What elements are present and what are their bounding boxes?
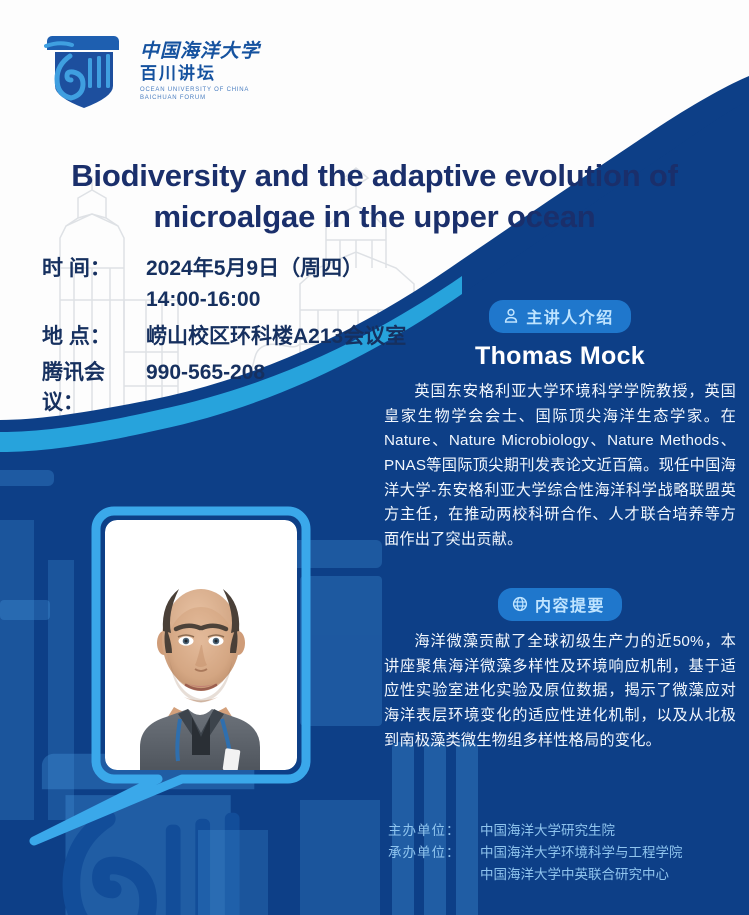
poster-root: 中国海洋大学 百川讲坛 OCEAN UNIVERSITY OF CHINA BA… bbox=[0, 0, 749, 915]
abstract-badge: 内容提要 bbox=[498, 588, 622, 621]
footer-row-host: 主办单位： 中国海洋大学研究生院 bbox=[388, 820, 740, 842]
detail-row-time: 时 间： 2024年5月9日（周四） bbox=[42, 252, 462, 282]
logo-subtitle-cn: 百川讲坛 bbox=[140, 65, 260, 82]
place-value: 崂山校区环科楼A213会议室 bbox=[146, 320, 406, 350]
speaker-badge: 主讲人介绍 bbox=[489, 300, 631, 333]
person-icon bbox=[503, 308, 519, 324]
logo-title-en: OCEAN UNIVERSITY OF CHINA bbox=[140, 87, 260, 93]
logo-subtitle-en: BAICHUAN FORUM bbox=[140, 95, 260, 101]
speaker-section: 主讲人介绍 Thomas Mock 英国东安格利亚大学环境科学学院教授，英国皇家… bbox=[384, 300, 736, 552]
speaker-badge-label: 主讲人介绍 bbox=[526, 304, 614, 328]
footer-row-coorg: 承办单位： 中国海洋大学环境科学与工程学院 bbox=[388, 842, 740, 864]
coorganizer-value-2: 中国海洋大学中英联合研究中心 bbox=[480, 864, 740, 886]
organizers-footer: 主办单位： 中国海洋大学研究生院 承办单位： 中国海洋大学环境科学与工程学院 中… bbox=[388, 820, 740, 886]
globe-icon bbox=[512, 596, 528, 612]
time-label: 时 间： bbox=[42, 252, 146, 282]
meeting-label: 腾讯会议： bbox=[42, 356, 146, 416]
brand-logo: 中国海洋大学 百川讲坛 OCEAN UNIVERSITY OF CHINA BA… bbox=[44, 32, 260, 110]
speaker-name: Thomas Mock bbox=[384, 342, 736, 371]
time-value: 2024年5月9日（周四） bbox=[146, 252, 363, 282]
speaker-bio: 英国东安格利亚大学环境科学学院教授，英国皇家生物学会会士、国际顶尖海洋生态学家。… bbox=[384, 380, 736, 552]
coorganizer-value-1: 中国海洋大学环境科学与工程学院 bbox=[480, 842, 740, 864]
ouc-baichuan-logo-icon bbox=[44, 32, 128, 110]
lecture-title: Biodiversity and the adaptive evolution … bbox=[40, 156, 709, 238]
coorganizer-label: 承办单位： bbox=[388, 842, 480, 864]
abstract-section: 内容提要 海洋微藻贡献了全球初级生产力的近50%，本讲座聚焦海洋微藻多样性及环境… bbox=[384, 588, 736, 753]
abstract-badge-label: 内容提要 bbox=[535, 592, 605, 616]
host-value: 中国海洋大学研究生院 bbox=[480, 820, 740, 842]
logo-title-cn: 中国海洋大学 bbox=[140, 42, 260, 61]
abstract-text: 海洋微藻贡献了全球初级生产力的近50%，本讲座聚焦海洋微藻多样性及环境响应机制，… bbox=[384, 630, 736, 753]
meeting-value: 990-565-208 bbox=[146, 361, 265, 385]
host-label: 主办单位： bbox=[388, 820, 480, 842]
place-label: 地 点： bbox=[42, 320, 146, 350]
footer-row-coorg-2: 中国海洋大学中英联合研究中心 bbox=[388, 864, 740, 886]
